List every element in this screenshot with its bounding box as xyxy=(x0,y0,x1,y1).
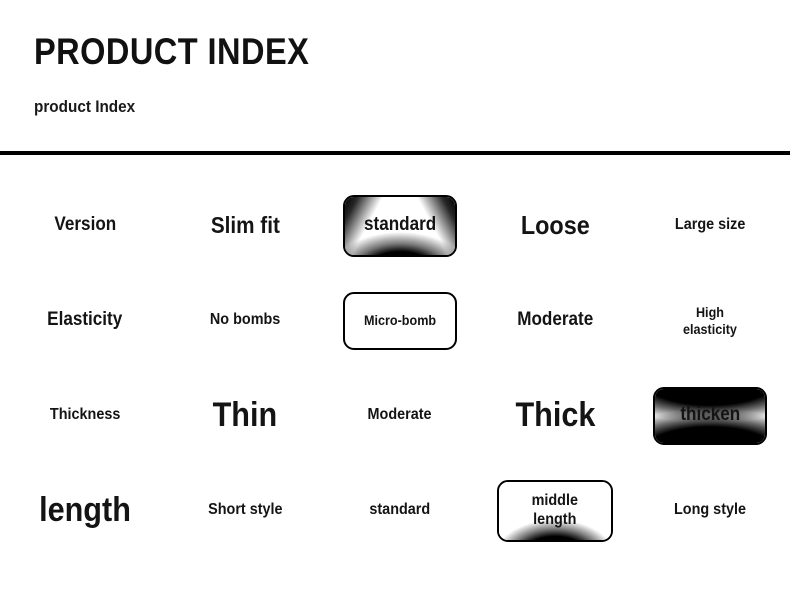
attribute-label-cell: Thickness xyxy=(0,368,170,463)
page-subtitle: product Index xyxy=(34,95,135,119)
option-label: Slim fit xyxy=(210,212,279,239)
header-divider xyxy=(0,151,790,155)
option-label: High elasticity xyxy=(683,304,737,337)
option-cell[interactable]: High elasticity xyxy=(630,273,790,368)
option-label: Elasticity xyxy=(47,309,122,331)
index-row: ThicknessThinModerateThickthicken xyxy=(0,368,790,463)
option-label: standard xyxy=(370,501,431,520)
option-cell[interactable]: Short style xyxy=(170,463,320,558)
selected-option-box[interactable]: thicken xyxy=(653,387,767,445)
attribute-label-cell: Elasticity xyxy=(0,273,170,368)
option-label: Moderate xyxy=(368,406,432,425)
option-cell[interactable]: Long style xyxy=(630,463,790,558)
option-label: Version xyxy=(54,214,116,236)
option-label: middle length xyxy=(532,492,578,530)
option-cell[interactable]: Slim fit xyxy=(170,178,320,273)
selected-option-box[interactable]: Micro-bomb xyxy=(343,292,457,350)
index-row: lengthShort stylestandardmiddle lengthLo… xyxy=(0,463,790,558)
option-cell[interactable]: No bombs xyxy=(170,273,320,368)
option-label: Micro-bomb xyxy=(364,312,436,329)
option-label: standard xyxy=(364,214,436,236)
option-label: Thick xyxy=(515,395,595,435)
option-label: No bombs xyxy=(210,311,280,330)
option-label: Large size xyxy=(675,216,745,235)
option-cell[interactable]: standard xyxy=(320,178,480,273)
option-cell[interactable]: thicken xyxy=(630,368,790,463)
attribute-label-cell: length xyxy=(0,463,170,558)
index-row: ElasticityNo bombsMicro-bombModerateHigh… xyxy=(0,273,790,368)
selected-option-box[interactable]: middle length xyxy=(497,480,613,542)
option-label: Thickness xyxy=(50,406,120,425)
option-label: Moderate xyxy=(517,309,593,331)
option-cell[interactable]: Thick xyxy=(480,368,630,463)
selected-option-box[interactable]: standard xyxy=(343,195,457,257)
page-title: PRODUCT INDEX xyxy=(34,30,309,74)
option-label: Loose xyxy=(521,210,590,241)
attribute-label-cell: Version xyxy=(0,178,170,273)
option-cell[interactable]: Thin xyxy=(170,368,320,463)
option-label: Thin xyxy=(213,395,278,435)
option-cell[interactable]: Micro-bomb xyxy=(320,273,480,368)
option-cell[interactable]: Moderate xyxy=(320,368,480,463)
option-label: Long style xyxy=(674,501,746,520)
option-label: length xyxy=(39,490,131,530)
product-index-grid: VersionSlim fitstandardLooseLarge sizeEl… xyxy=(0,178,790,558)
option-cell[interactable]: Large size xyxy=(630,178,790,273)
option-cell[interactable]: Loose xyxy=(480,178,630,273)
option-label: thicken xyxy=(680,404,740,426)
index-row: VersionSlim fitstandardLooseLarge size xyxy=(0,178,790,273)
option-cell[interactable]: Moderate xyxy=(480,273,630,368)
option-cell[interactable]: standard xyxy=(320,463,480,558)
option-label: Short style xyxy=(208,501,282,520)
option-cell[interactable]: middle length xyxy=(480,463,630,558)
